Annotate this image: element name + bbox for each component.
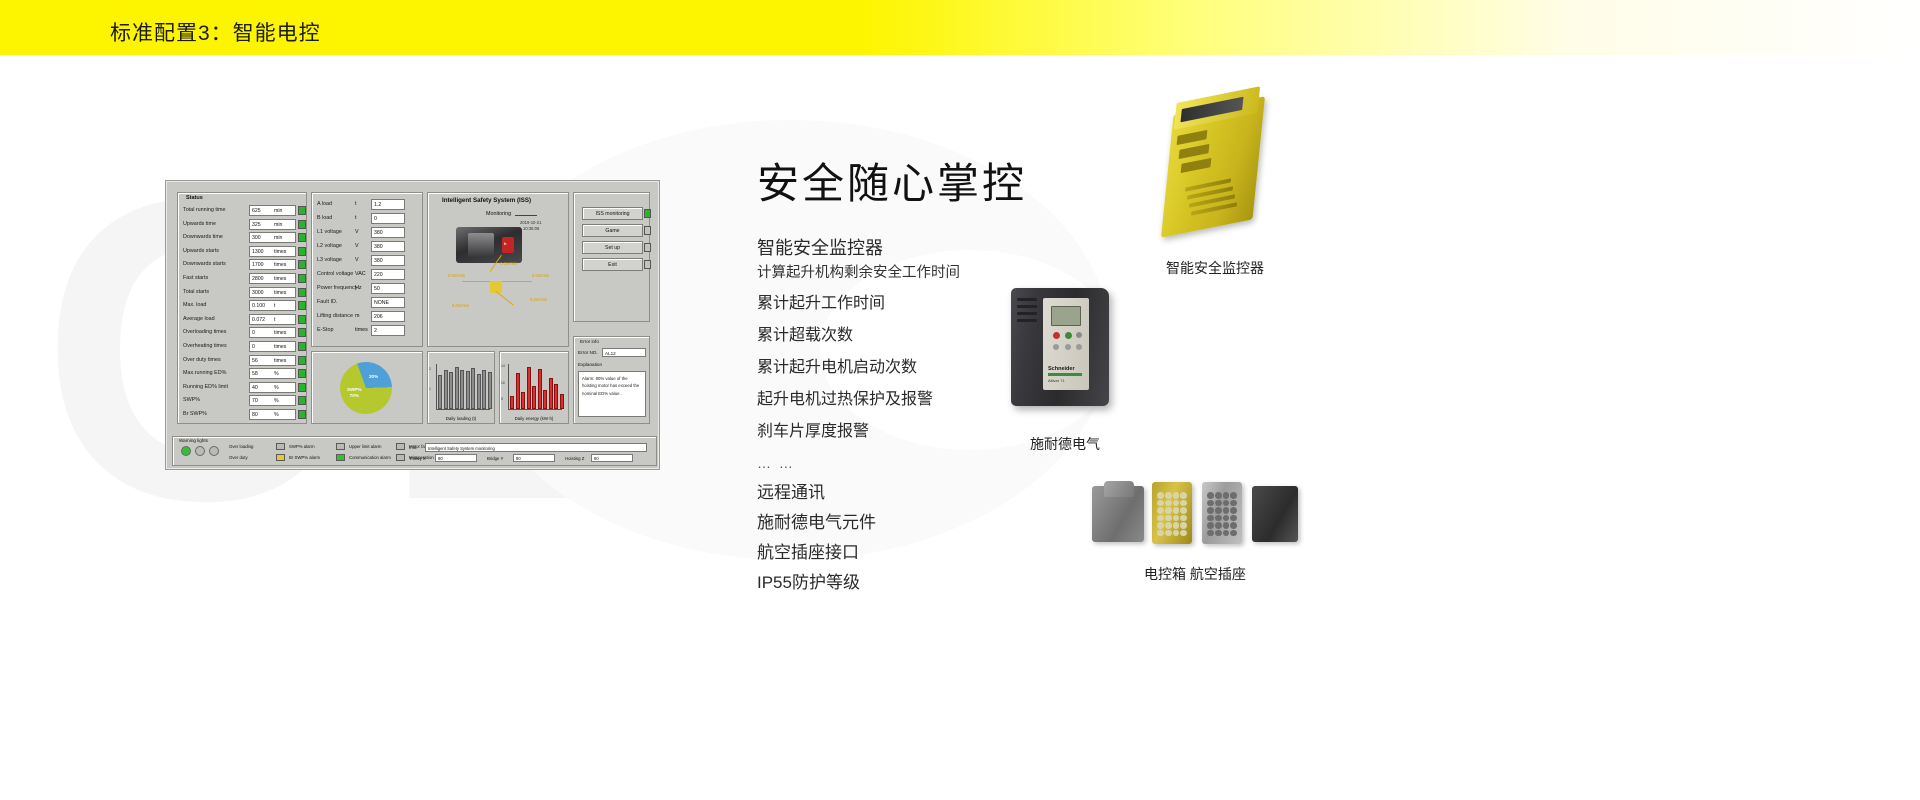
feature-list: 智能安全监控器计算起升机构剩余安全工作时间累计起升工作时间累计超载次数累计起升电… (757, 239, 1027, 591)
content-heading: 安全随心掌控 (757, 150, 1027, 211)
pie-slice-label-1: SWP%70% (347, 387, 362, 398)
connector-pin (1230, 522, 1237, 529)
connector-pin (1157, 492, 1164, 499)
status-row: Br SWP%80% (183, 408, 305, 422)
connector-pin (1207, 507, 1214, 514)
param-row-field[interactable]: 380 (371, 241, 405, 252)
status-panel-title: Status (186, 195, 203, 201)
param-row-value: NONE (374, 300, 389, 306)
status-row-unit: times (274, 344, 286, 350)
vfd-brand-bar (1048, 373, 1082, 376)
params-panel: A load1.2tB load0tL1 voltage380VL2 volta… (311, 192, 423, 347)
hmi-button[interactable]: Exit (582, 258, 643, 271)
param-row: L2 voltage380V (317, 240, 421, 254)
status-row: Overloading times0times (183, 326, 305, 340)
connector-pin (1165, 522, 1172, 529)
vfd-display-screen (1051, 306, 1081, 326)
warning-item-led (336, 443, 345, 450)
param-row-unit: t (355, 215, 357, 221)
error-info-title: Error info (580, 339, 599, 344)
connector-pin (1207, 492, 1214, 499)
chart-bar (460, 370, 464, 409)
param-row-value: 380 (374, 230, 383, 236)
connector-pin (1223, 500, 1230, 507)
status-row: Total starts3000times (183, 286, 305, 300)
param-row-unit: times (355, 327, 368, 333)
feature-item: 远程通讯 (757, 484, 1027, 501)
daily-energy-chart-panel: 14 10 5 Daily energy (kW·h) (499, 351, 569, 424)
status-row-led (298, 396, 306, 405)
connector-hood-grey (1092, 486, 1144, 542)
connector-pin (1207, 530, 1214, 537)
hmi-button-led (644, 209, 651, 218)
status-row-value: 80 (252, 412, 258, 418)
speed-label-3: 8.0m/min (530, 297, 547, 302)
connector-pin (1215, 522, 1222, 529)
hmi-button-led (644, 243, 651, 252)
status-row: Max.running ED%58% (183, 367, 305, 381)
status-row-label: Downwards time (183, 234, 223, 240)
bar2-x-axis (508, 409, 562, 410)
status-row-value: 0.072 (252, 317, 265, 323)
chart-bar (532, 386, 536, 409)
connector-pin (1173, 530, 1180, 537)
status-row-label: Overheating times (183, 343, 227, 349)
status-row-field[interactable]: 3000times (249, 287, 296, 298)
status-row-led (298, 233, 306, 242)
warning-lamp (195, 446, 205, 456)
bar2-ytick-2: 5 (501, 397, 503, 401)
status-row-unit: t (274, 303, 275, 309)
status-row-unit: times (274, 262, 286, 268)
vfd-up-button[interactable] (1053, 344, 1059, 350)
chart-bar (449, 372, 453, 409)
connector-pin (1230, 515, 1237, 522)
status-row-label: Fast starts (183, 275, 208, 281)
bar2-caption: Daily energy (kW·h) (500, 416, 568, 421)
status-row-unit: times (274, 330, 286, 336)
connector-pin (1223, 530, 1230, 537)
warning-item-label: Over duty (229, 455, 248, 460)
param-row-value: 0 (374, 216, 377, 222)
hmi-inner: Status Total running time625minUpwards t… (171, 186, 656, 431)
connector-pin-grid-gold (1157, 492, 1187, 536)
chart-bar (521, 392, 525, 409)
status-row: Overheating times0times (183, 340, 305, 354)
bar2-ytick-0: 14 (501, 364, 505, 368)
param-row-unit: V (355, 243, 359, 249)
param-row-unit: Hz (355, 285, 362, 291)
monitoring-title: Intelligent Safety System (ISS) (442, 197, 531, 204)
param-row-value: 50 (374, 286, 380, 292)
warning-field-value[interactable]: 80 (435, 454, 477, 462)
monitoring-time: 10:35:06 (523, 226, 539, 231)
status-row-field[interactable]: 1700times (249, 259, 296, 270)
connector-pin (1230, 507, 1237, 514)
connector-pin (1207, 515, 1214, 522)
warning-item-label: Br SWP% alarm (289, 455, 320, 460)
status-row-led (298, 247, 306, 256)
bar2-ytick-1: 10 (501, 381, 505, 385)
param-row-field[interactable]: 220 (371, 269, 405, 280)
param-row: Control voltage220VAC (317, 268, 421, 282)
monitoring-panel: Intelligent Safety System (ISS) Monitori… (427, 192, 569, 347)
connector-insert-gold (1152, 482, 1192, 544)
status-row: Max. load0.100t (183, 299, 305, 313)
warning-lamp (181, 446, 191, 456)
chart-bar (560, 394, 564, 409)
status-row-led (298, 356, 306, 365)
connector-pin (1157, 507, 1164, 514)
status-row-label: Max. load (183, 302, 206, 308)
error-no-label: Error NO. (578, 350, 598, 355)
warning-field-label: Trolley X (409, 456, 426, 461)
status-row-value: 70 (252, 398, 258, 404)
connector-housing-black (1252, 486, 1298, 542)
vfd-vent-1 (1017, 298, 1037, 301)
chart-bar (549, 378, 553, 410)
connector-pin-grid-silver (1207, 492, 1237, 536)
status-row-led (298, 288, 306, 297)
warning-item-label: Communication alarm (349, 455, 391, 460)
feature-item: 航空插座接口 (757, 544, 1027, 561)
connector-pin (1173, 507, 1180, 514)
status-row-label: Over duty times (183, 357, 221, 363)
hmi-screen-image: Status Total running time625minUpwards t… (165, 180, 660, 470)
vfd-nav-button[interactable] (1076, 332, 1082, 338)
warning-item-label: Over loading (229, 444, 253, 449)
hmi-button-panel: ISS monitoringGameSet upExit (573, 192, 650, 322)
info-label: Info. (409, 445, 417, 450)
status-row-field[interactable]: 80% (249, 409, 296, 420)
vector-line-4 (496, 291, 514, 305)
connector-pin (1180, 530, 1187, 537)
warning-field-label: Hoisting Z (565, 456, 584, 461)
status-row-unit: times (274, 276, 286, 282)
param-row-field[interactable]: 2 (371, 325, 405, 336)
status-row-field[interactable]: 1300times (249, 246, 296, 257)
hmi-button-led (644, 226, 651, 235)
status-row: Downwards time300min (183, 231, 305, 245)
status-row-label: Upwards time (183, 221, 216, 227)
connector-pin (1165, 500, 1172, 507)
pie-chart (333, 355, 400, 422)
chart-bar (510, 396, 514, 409)
monitoring-underline (515, 215, 537, 216)
status-row-label: Average load (183, 316, 215, 322)
connector-pin (1223, 492, 1230, 499)
connector-pin (1173, 500, 1180, 507)
param-row-label: A load (317, 201, 332, 207)
param-row-value: 220 (374, 272, 383, 278)
hmi-button[interactable]: ISS monitoring (582, 207, 643, 220)
chart-bar (543, 390, 547, 409)
pie-chart-panel: 20% SWP%70% (311, 351, 423, 424)
feature-item: 刹车片厚度报警 (757, 424, 1027, 440)
param-row-field[interactable]: NONE (371, 297, 405, 308)
feature-item: 累计起升工作时间 (757, 296, 1027, 312)
bar1-caption: Daily loading (t) (428, 416, 494, 421)
warning-item-led (276, 454, 285, 461)
feature-item: 起升电机过热保护及报警 (757, 392, 1027, 408)
vfd-stop-button[interactable] (1053, 332, 1060, 339)
status-row-value: 0 (252, 330, 255, 336)
status-panel: Status Total running time625minUpwards t… (177, 192, 307, 424)
status-row-field[interactable]: 325min (249, 219, 296, 230)
param-row-value: 206 (374, 314, 383, 320)
product-caption-safety-relay: 智能安全监控器 (1100, 258, 1330, 278)
param-row: A load1.2t (317, 198, 421, 212)
connector-pin (1157, 500, 1164, 507)
monitoring-subtitle: Monitoring (486, 211, 511, 217)
param-row-unit: t (355, 201, 357, 207)
pie-slice-label-0: 20% (369, 374, 378, 380)
vfd-run-button[interactable] (1065, 332, 1072, 339)
connector-pin (1165, 530, 1172, 537)
status-row-field[interactable]: 40% (249, 382, 296, 393)
status-row-field[interactable]: 0.072t (249, 314, 296, 325)
connector-pin (1215, 492, 1222, 499)
chart-bar (488, 372, 492, 409)
status-row: Upwards time325min (183, 218, 305, 232)
feature-item: 累计起升电机启动次数 (757, 360, 1027, 376)
status-row-led (298, 369, 306, 378)
warning-lights-title: Warning lights (179, 438, 208, 443)
connector-pin (1207, 522, 1214, 529)
bar1-x-axis (436, 409, 490, 410)
connector-pin (1180, 492, 1187, 499)
param-row: L3 voltage380V (317, 254, 421, 268)
vfd-vent-4 (1017, 319, 1037, 322)
hoist-drum-graphic (468, 233, 494, 257)
status-row-value: 3000 (252, 290, 264, 296)
status-row-value: 1700 (252, 262, 264, 268)
connector-pin (1173, 522, 1180, 529)
chart-bar (471, 368, 475, 409)
status-row: Downwards starts1700times (183, 258, 305, 272)
status-row-label: Overloading times (183, 329, 226, 335)
status-row: SWP%70% (183, 394, 305, 408)
connector-pin (1215, 515, 1222, 522)
status-row-value: 325 (252, 222, 261, 228)
daily-loading-chart-panel: 2 1 Daily loading (t) (427, 351, 495, 424)
status-row: Running ED% limit40% (183, 381, 305, 395)
param-row-field[interactable]: 1.2 (371, 199, 405, 210)
param-row-field[interactable]: 380 (371, 227, 405, 238)
hoist-tag: h (504, 241, 506, 246)
error-explanation-label: Explanation (578, 362, 602, 367)
param-row-label: Fault ID. (317, 299, 337, 305)
connector-pin (1223, 507, 1230, 514)
status-row-value: 56 (252, 358, 258, 364)
product-caption-connectors: 电控箱 航空插座 (1080, 564, 1310, 584)
status-row-label: Downwards starts (183, 261, 226, 267)
connector-pin (1157, 515, 1164, 522)
connector-pin (1207, 500, 1214, 507)
status-row-label: Max.running ED% (183, 370, 226, 376)
connector-pin (1165, 507, 1172, 514)
speed-label-4: 8.0m/min (452, 303, 469, 308)
warning-item-led (396, 454, 405, 461)
status-row-unit: t (274, 317, 275, 323)
warning-field-value[interactable]: 80 (591, 454, 633, 462)
connector-pin (1180, 507, 1187, 514)
status-row-value: 300 (252, 235, 261, 241)
connector-pin (1215, 500, 1222, 507)
status-row-unit: % (274, 412, 279, 418)
status-row-unit: times (274, 290, 286, 296)
warning-item-led (276, 443, 285, 450)
monitoring-date: 2019-10-21 (520, 220, 541, 225)
connector-pin (1173, 515, 1180, 522)
status-row-unit: times (274, 249, 286, 255)
hmi-button[interactable]: Game (582, 224, 643, 237)
page-header: 标准配置3：智能电控 (0, 0, 1920, 55)
status-row-unit: times (274, 358, 286, 364)
info-value: Intelligent Safety System monitoring (425, 443, 647, 452)
bar1-bars (438, 365, 492, 409)
chart-bar (438, 375, 442, 409)
status-row-field[interactable]: 56times (249, 355, 296, 366)
connector-pin (1180, 515, 1187, 522)
connector-pin (1215, 530, 1222, 537)
param-row-label: L1 voltage (317, 229, 342, 235)
vfd-vent-3 (1017, 312, 1037, 315)
chart-bar (554, 384, 558, 409)
hmi-button-led (644, 260, 651, 269)
warning-item-label: SWP% alarm (289, 444, 315, 449)
param-row-field[interactable]: 50 (371, 283, 405, 294)
status-row: Total running time625min (183, 204, 305, 218)
chart-bar (477, 374, 481, 409)
status-row-unit: min (274, 235, 282, 241)
status-row-value: 40 (252, 385, 258, 391)
vector-line-1 (462, 281, 490, 282)
status-row-led (298, 206, 306, 215)
chart-bar (466, 371, 470, 409)
status-row-unit: min (274, 208, 282, 214)
status-row-value: 625 (252, 208, 261, 214)
chart-bar (527, 367, 531, 409)
param-row-unit: V (355, 257, 359, 263)
param-row-value: 1.2 (374, 202, 381, 208)
param-row: Fault ID.NONE (317, 296, 421, 310)
warning-item-led (396, 443, 405, 450)
chart-bar (482, 370, 486, 409)
warning-field-label: Bridge Y (487, 456, 503, 461)
status-row: Fast starts2800times (183, 272, 305, 286)
warning-field-value[interactable]: 80 (513, 454, 555, 462)
connector-pin (1165, 492, 1172, 499)
status-row-field[interactable]: 0times (249, 341, 296, 352)
error-no-value[interactable]: AL12 (602, 348, 646, 357)
feature-item: IP55防护等级 (757, 574, 1027, 591)
param-row-field[interactable]: 206 (371, 311, 405, 322)
feature-item: 累计超载次数 (757, 328, 1027, 344)
status-row-field[interactable]: 625min (249, 205, 296, 216)
connector-pin (1223, 522, 1230, 529)
feature-item: … … (757, 456, 1027, 470)
warning-lights-panel: Warning lights Over loadingOver dutySWP%… (172, 436, 657, 466)
param-row-label: L3 voltage (317, 257, 342, 263)
status-row-value: 0 (252, 344, 255, 350)
param-row-label: Control voltage (317, 271, 353, 277)
page-title: 标准配置3：智能电控 (110, 17, 321, 47)
feature-item: 智能安全监控器 (757, 239, 1027, 257)
status-row-unit: % (274, 385, 279, 391)
status-row: Over duty times56times (183, 354, 305, 368)
warning-item-label: Upper limit alarm (349, 444, 381, 449)
param-row-unit: V (355, 229, 359, 235)
speed-label-0: 0.0m/min (448, 273, 465, 278)
param-row-field[interactable]: 380 (371, 255, 405, 266)
status-row-led (298, 274, 306, 283)
product-safety-relay (1155, 85, 1280, 250)
param-row: Power frequency50Hz (317, 282, 421, 296)
status-row-value: 1300 (252, 249, 264, 255)
status-row-value: 0.100 (252, 303, 265, 309)
status-row: Upwards starts1300times (183, 245, 305, 259)
status-row-label: SWP% (183, 397, 200, 403)
status-row-led (298, 315, 306, 324)
status-row-field[interactable]: 300min (249, 232, 296, 243)
param-row-label: B load (317, 215, 332, 221)
status-row-led (298, 328, 306, 337)
vfd-vent-2 (1017, 305, 1037, 308)
param-row-unit: m (355, 313, 360, 319)
product-schneider-vfd: Schneider Altivar 71 (1005, 282, 1125, 412)
status-row-unit: min (274, 222, 282, 228)
status-row-label: Running ED% limit (183, 384, 228, 390)
speed-label-1: 0.0m/min (500, 261, 517, 266)
bar2-y-axis (508, 364, 509, 410)
status-row-value: 2800 (252, 276, 264, 282)
connector-insert-silver (1202, 482, 1242, 544)
param-row-field[interactable]: 0 (371, 213, 405, 224)
status-row-field[interactable]: 70% (249, 395, 296, 406)
status-row-field[interactable]: 0.100t (249, 300, 296, 311)
connector-pin (1165, 515, 1172, 522)
vfd-down-button[interactable] (1065, 344, 1071, 350)
feature-item: 计算起升机构剩余安全工作时间 (757, 266, 1027, 281)
status-row-field[interactable]: 58% (249, 368, 296, 379)
product-connectors (1090, 480, 1300, 550)
chart-bar (455, 367, 459, 409)
param-row: Lifting distance206m (317, 310, 421, 324)
param-row-label: L2 voltage (317, 243, 342, 249)
status-row-field[interactable]: 0times (249, 327, 296, 338)
status-row-value: 58 (252, 371, 258, 377)
status-row: Average load0.072t (183, 313, 305, 327)
chart-bar (516, 373, 520, 409)
hmi-button[interactable]: Set up (582, 241, 643, 254)
vector-line-2 (502, 281, 532, 282)
connector-pin (1230, 500, 1237, 507)
connector-pin (1230, 530, 1237, 537)
status-row-field[interactable]: 2800times (249, 273, 296, 284)
status-row-led (298, 220, 306, 229)
param-row-label: Power frequency (317, 285, 357, 291)
param-row: B load0t (317, 212, 421, 226)
warning-lamp (209, 446, 219, 456)
status-row-led (298, 260, 306, 269)
vfd-enter-button[interactable] (1076, 344, 1082, 350)
param-row-value: 380 (374, 258, 383, 264)
status-row-led (298, 342, 306, 351)
status-row-label: Total starts (183, 289, 209, 295)
param-row: E-Stop2times (317, 324, 421, 338)
status-row-led (298, 383, 306, 392)
